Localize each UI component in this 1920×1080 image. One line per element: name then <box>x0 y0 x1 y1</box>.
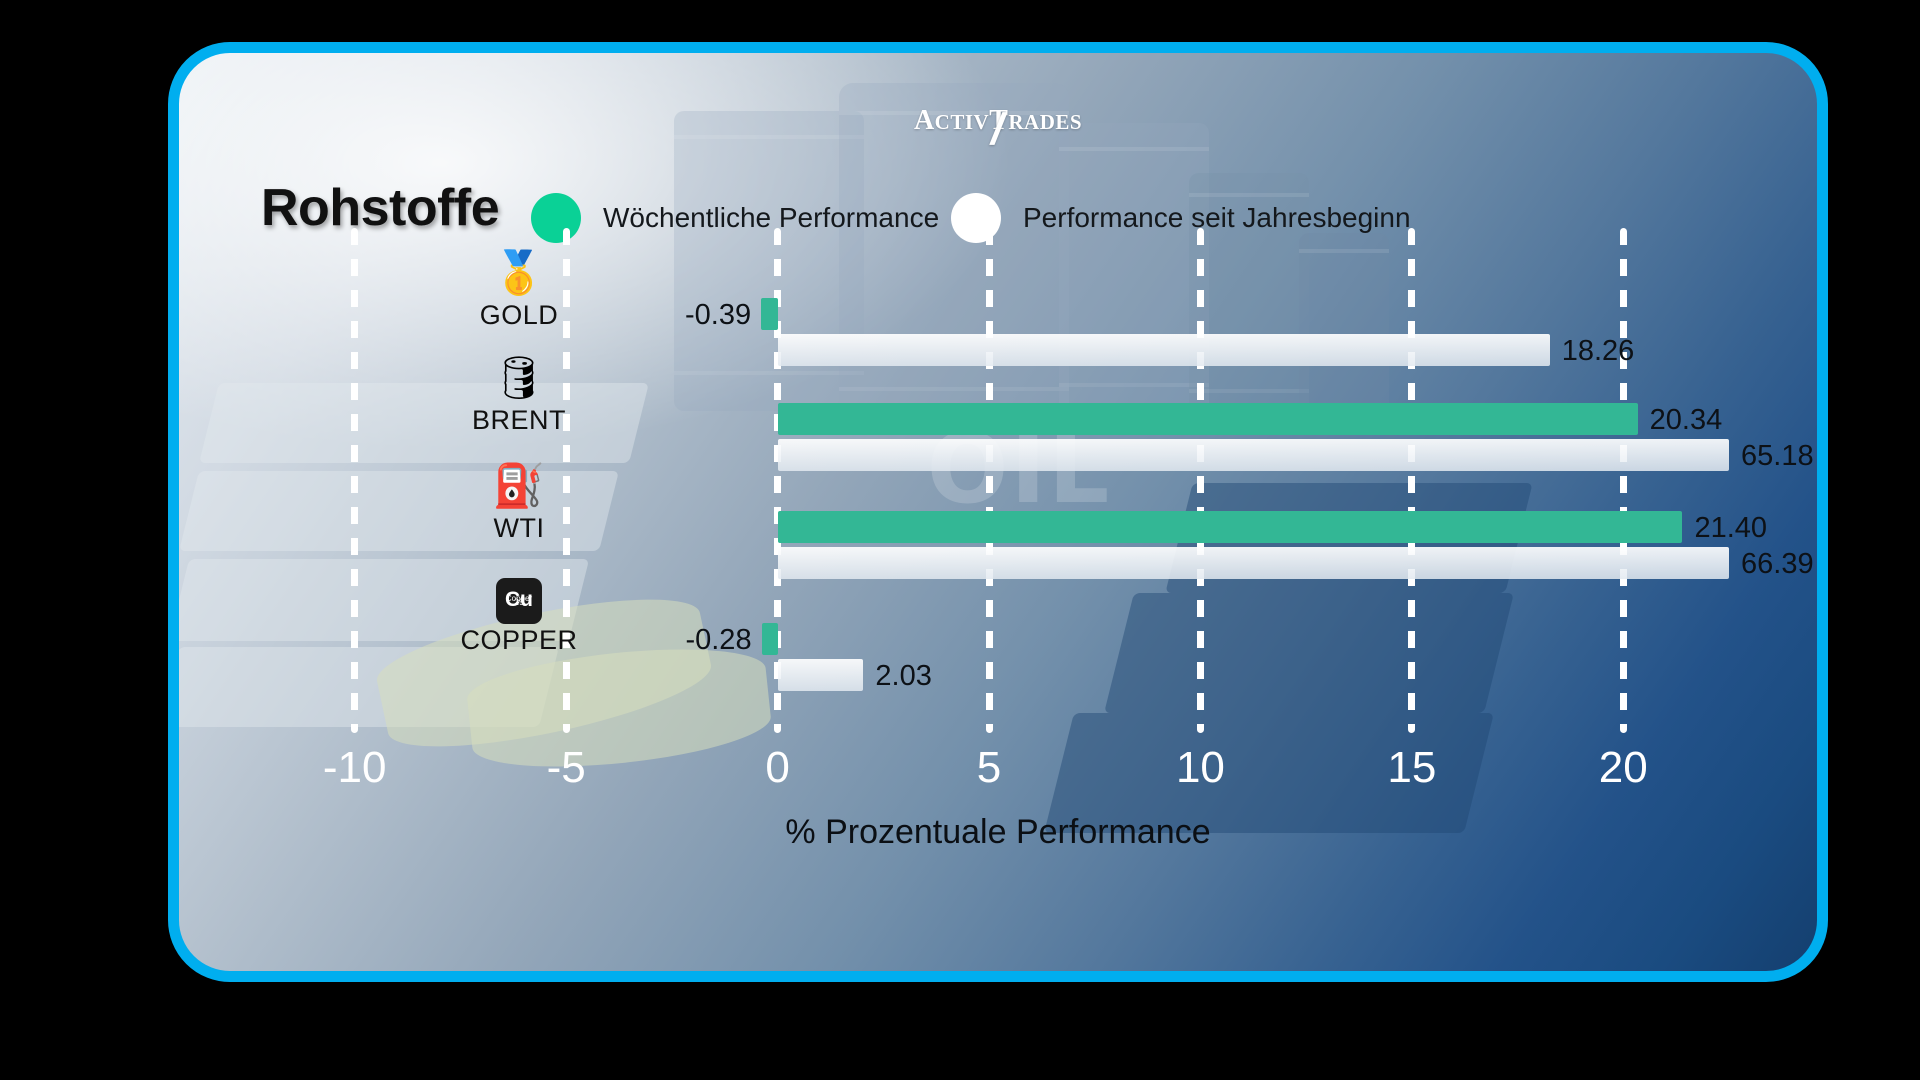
row-name: WTI <box>389 513 649 544</box>
activtrades-logo: ACTIV/TRADES <box>179 105 1817 137</box>
row-label-brent: 🛢BRENT <box>389 355 649 436</box>
x-axis-ticks: -10-505101520 <box>249 743 1729 803</box>
row-name: GOLD <box>389 300 649 331</box>
axis-tick-20: 20 <box>1599 743 1648 793</box>
bar-weekly-brent <box>778 403 1638 435</box>
axis-tick--5: -5 <box>547 743 586 793</box>
chart-plot-area: 🥇GOLD-0.3918.26🛢BRENT20.3465.18⛽WTI21.40… <box>249 228 1729 733</box>
row-name: COPPER <box>389 625 649 656</box>
gridline-10 <box>1197 228 1204 733</box>
axis-tick-15: 15 <box>1387 743 1436 793</box>
bar-value-weekly-copper: -0.28 <box>685 624 751 656</box>
axis-tick-0: 0 <box>765 743 789 793</box>
bar-ytd-copper <box>778 659 864 691</box>
row-name: BRENT <box>389 405 649 436</box>
bar-value-ytd-wti: 66.39 <box>1741 548 1814 580</box>
gold-bars-icon: 🥇 <box>389 250 649 298</box>
logo-letter-a: A <box>914 105 935 136</box>
screenshot-root: OIL ACTIV/TRADES Rohstoffe Wöchentliche … <box>0 0 1920 1080</box>
copper-element-icon: 29CuCopper <box>389 575 649 623</box>
bar-value-ytd-gold: 18.26 <box>1562 335 1635 367</box>
logo-word-trades: RADES <box>1008 110 1082 134</box>
infographic-card: OIL ACTIV/TRADES Rohstoffe Wöchentliche … <box>168 42 1828 982</box>
axis-tick-10: 10 <box>1176 743 1225 793</box>
bar-ytd-gold <box>778 334 1550 366</box>
row-label-gold: 🥇GOLD <box>389 250 649 331</box>
bar-value-ytd-brent: 65.18 <box>1741 440 1814 472</box>
gridline-5 <box>986 228 993 733</box>
gridline-15 <box>1408 228 1415 733</box>
row-label-wti: ⛽WTI <box>389 463 649 544</box>
gridline-20 <box>1620 228 1627 733</box>
bar-weekly-wti <box>778 511 1683 543</box>
logo-word-activ: CTIV <box>935 110 990 134</box>
gridline--10 <box>351 228 358 733</box>
oil-barrels-icon: 🛢 <box>389 355 649 403</box>
axis-tick-5: 5 <box>977 743 1001 793</box>
bar-value-weekly-gold: -0.39 <box>685 299 751 331</box>
row-label-copper: 29CuCopperCOPPER <box>389 575 649 656</box>
bar-weekly-copper <box>762 623 778 655</box>
bar-value-weekly-brent: 20.34 <box>1650 404 1723 436</box>
bar-value-weekly-wti: 21.40 <box>1694 512 1767 544</box>
x-axis-label: % Prozentuale Performance <box>179 813 1817 852</box>
bar-ytd-brent <box>778 439 1729 471</box>
bar-weekly-gold <box>761 298 777 330</box>
bar-value-ytd-copper: 2.03 <box>875 660 931 692</box>
axis-tick--10: -10 <box>323 743 387 793</box>
bar-ytd-wti <box>778 547 1729 579</box>
oil-pumpjack-icon: ⛽ <box>389 463 649 511</box>
